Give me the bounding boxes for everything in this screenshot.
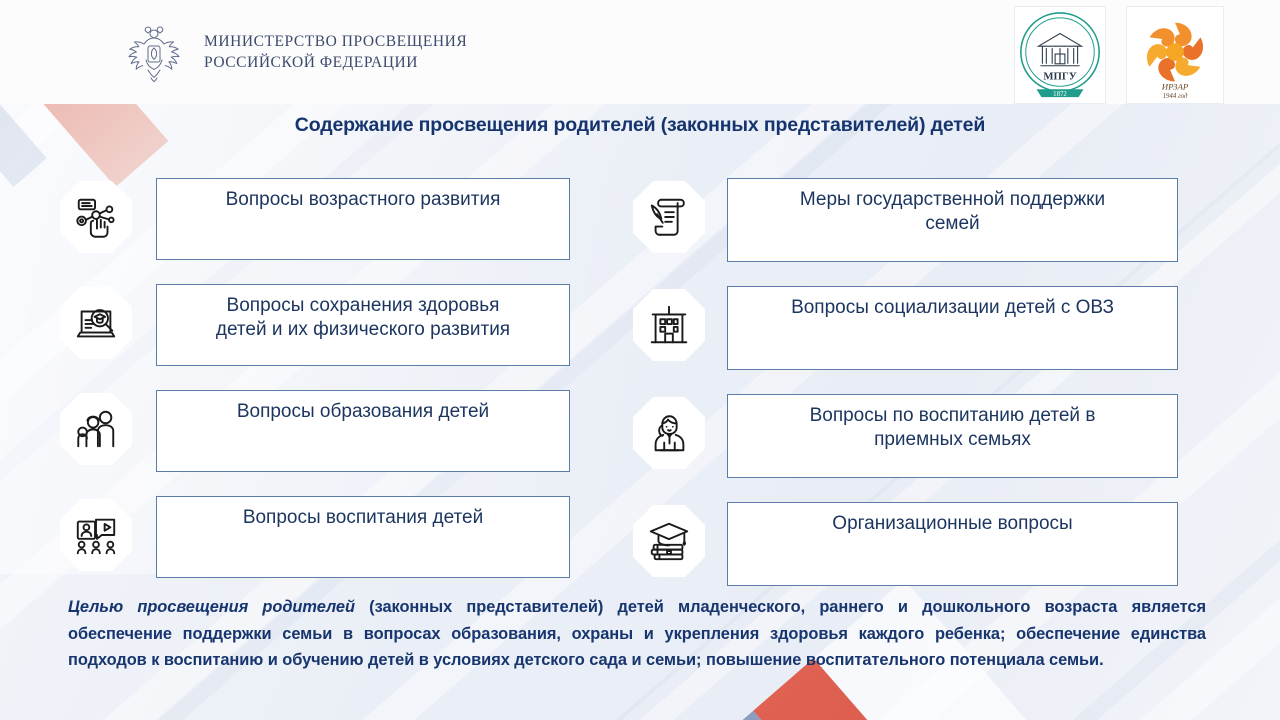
list-item[interactable]: Вопросы воспитания детей bbox=[60, 496, 570, 580]
laptop-magnifier-icon bbox=[60, 287, 132, 359]
double-headed-eagle-icon bbox=[118, 20, 190, 86]
list-item[interactable]: Меры государственной поддержки семей bbox=[633, 178, 1178, 264]
footnote-lead: Целью просвещения родителей bbox=[68, 598, 355, 616]
webinar-screen-icon bbox=[60, 499, 132, 571]
topic-label: Вопросы образования детей bbox=[171, 400, 555, 424]
slide-canvas: МИНИСТЕРСТВО ПРОСВЕЩЕНИЯ РОССИЙСКОЙ ФЕДЕ… bbox=[0, 0, 1280, 720]
teacher-woman-icon bbox=[633, 397, 705, 469]
topic-box[interactable]: Вопросы образования детей bbox=[156, 390, 570, 472]
topic-box[interactable]: Вопросы сохранения здоровья детей и их ф… bbox=[156, 284, 570, 366]
right-column: Меры государственной поддержки семей bbox=[633, 178, 1178, 610]
family-group-icon bbox=[60, 393, 132, 465]
topic-label: Вопросы социализации детей с ОВЗ bbox=[742, 296, 1163, 320]
topic-label: Организационные вопросы bbox=[742, 512, 1163, 536]
content-grid: Вопросы возрастного развития bbox=[0, 178, 1280, 578]
topic-box[interactable]: Организационные вопросы bbox=[727, 502, 1178, 586]
topic-label: Вопросы возрастного развития bbox=[171, 188, 555, 212]
topic-box[interactable]: Вопросы социализации детей с ОВЗ bbox=[727, 286, 1178, 370]
svg-text:ИРЗАР: ИРЗАР bbox=[1161, 81, 1189, 91]
svg-text:1944 год: 1944 год bbox=[1163, 93, 1188, 100]
svg-text:МПГУ: МПГУ bbox=[1043, 70, 1076, 82]
topic-label: Вопросы по воспитанию детей в приемных с… bbox=[742, 404, 1163, 452]
scroll-quill-icon bbox=[633, 181, 705, 253]
topic-label: Меры государственной поддержки семей bbox=[742, 188, 1163, 236]
ministry-name: МИНИСТЕРСТВО ПРОСВЕЩЕНИЯ РОССИЙСКОЙ ФЕДЕ… bbox=[204, 32, 467, 73]
footnote-paragraph: Целью просвещения родителей (законных пр… bbox=[68, 594, 1206, 674]
list-item[interactable]: Вопросы образования детей bbox=[60, 390, 570, 474]
irzar-logo: ИРЗАР 1944 год bbox=[1126, 6, 1224, 104]
list-item[interactable]: Вопросы возрастного развития bbox=[60, 178, 570, 262]
topic-label: Вопросы сохранения здоровья детей и их ф… bbox=[171, 294, 555, 342]
topic-box[interactable]: Меры государственной поддержки семей bbox=[727, 178, 1178, 262]
page-title: Содержание просвещения родителей (законн… bbox=[190, 112, 1090, 139]
list-item[interactable]: Вопросы сохранения здоровья детей и их ф… bbox=[60, 284, 570, 368]
topic-box[interactable]: Вопросы возрастного развития bbox=[156, 178, 570, 260]
school-building-icon bbox=[633, 289, 705, 361]
topic-box[interactable]: Вопросы воспитания детей bbox=[156, 496, 570, 578]
topic-label: Вопросы воспитания детей bbox=[171, 506, 555, 530]
mpgu-logo: МПГУ 1872 bbox=[1014, 6, 1106, 104]
list-item[interactable]: Вопросы по воспитанию детей в приемных с… bbox=[633, 394, 1178, 480]
topic-box[interactable]: Вопросы по воспитанию детей в приемных с… bbox=[727, 394, 1178, 478]
ministry-branding: МИНИСТЕРСТВО ПРОСВЕЩЕНИЯ РОССИЙСКОЙ ФЕДЕ… bbox=[118, 20, 467, 86]
left-column: Вопросы возрастного развития bbox=[60, 178, 570, 602]
graduation-books-icon bbox=[633, 505, 705, 577]
svg-text:1872: 1872 bbox=[1053, 91, 1067, 98]
list-item[interactable]: Организационные вопросы bbox=[633, 502, 1178, 588]
list-item[interactable]: Вопросы социализации детей с ОВЗ bbox=[633, 286, 1178, 372]
cursor-network-icon bbox=[60, 181, 132, 253]
